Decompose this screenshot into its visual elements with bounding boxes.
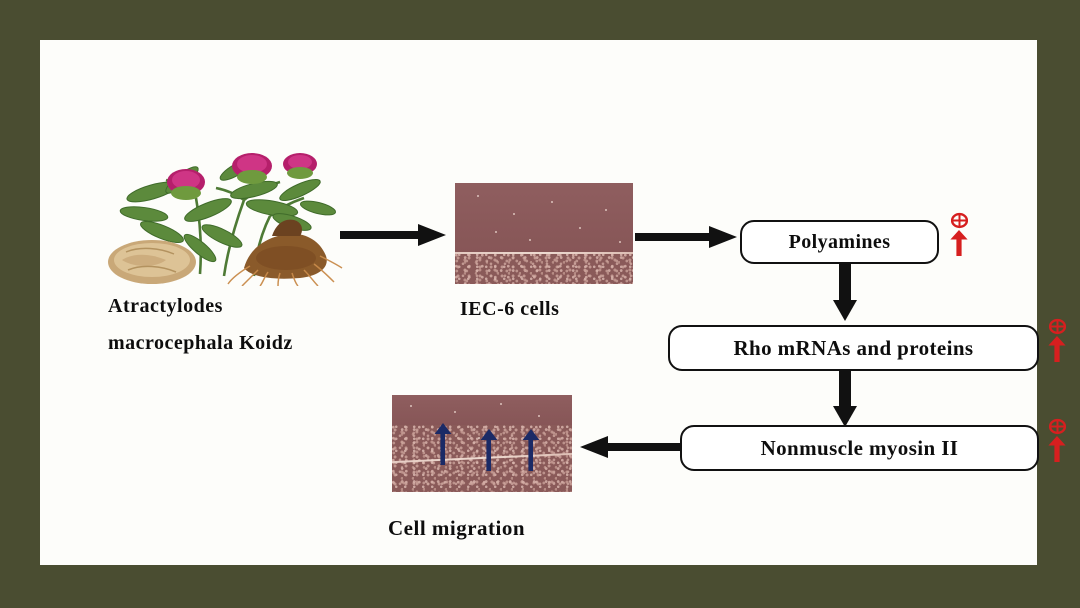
arrow-polyamines-to-rho: [830, 262, 860, 322]
figure-canvas: Atractylodes macrocephala Koidz IEC-6 ce…: [0, 0, 1080, 608]
atractylodes-plant-image: [104, 136, 348, 286]
box-rho-label: Rho mRNAs and proteins: [733, 336, 973, 361]
arrow-rho-to-myosin: [830, 370, 860, 428]
upregulation-marker-rho: [1046, 318, 1068, 362]
arrow-myosin-to-migration: [580, 432, 680, 462]
circled-plus-icon: [1049, 418, 1066, 435]
migration-direction-arrow-3: [522, 429, 540, 471]
red-up-arrow-icon: [1047, 336, 1067, 362]
cell-migration-micrograph: [392, 395, 572, 492]
upregulation-marker-polyamines: [948, 212, 970, 256]
figure-panel: Atractylodes macrocephala Koidz IEC-6 ce…: [40, 40, 1037, 565]
box-myosin-label: Nonmuscle myosin II: [761, 436, 959, 461]
box-polyamines-label: Polyamines: [789, 231, 891, 254]
migration-direction-arrow-2: [480, 429, 498, 471]
arrow-plant-to-cells: [340, 220, 448, 250]
circled-plus-icon: [1049, 318, 1066, 335]
circled-plus-icon: [951, 212, 968, 229]
iec-6-micrograph: [455, 183, 633, 284]
box-rho-mrnas-proteins[interactable]: Rho mRNAs and proteins: [668, 325, 1039, 371]
iec-cells-label: IEC-6 cells: [460, 298, 559, 321]
migration-direction-arrow-1: [434, 423, 452, 465]
plant-label-line2: macrocephala Koidz: [108, 332, 293, 355]
upregulation-marker-myosin: [1046, 418, 1068, 462]
arrow-cells-to-polyamines: [635, 222, 739, 252]
cell-migration-label: Cell migration: [388, 516, 525, 541]
box-nonmuscle-myosin[interactable]: Nonmuscle myosin II: [680, 425, 1039, 471]
plant-label-line1: Atractylodes: [108, 295, 223, 318]
box-polyamines[interactable]: Polyamines: [740, 220, 939, 264]
red-up-arrow-icon: [1047, 436, 1067, 462]
red-up-arrow-icon: [949, 230, 969, 256]
